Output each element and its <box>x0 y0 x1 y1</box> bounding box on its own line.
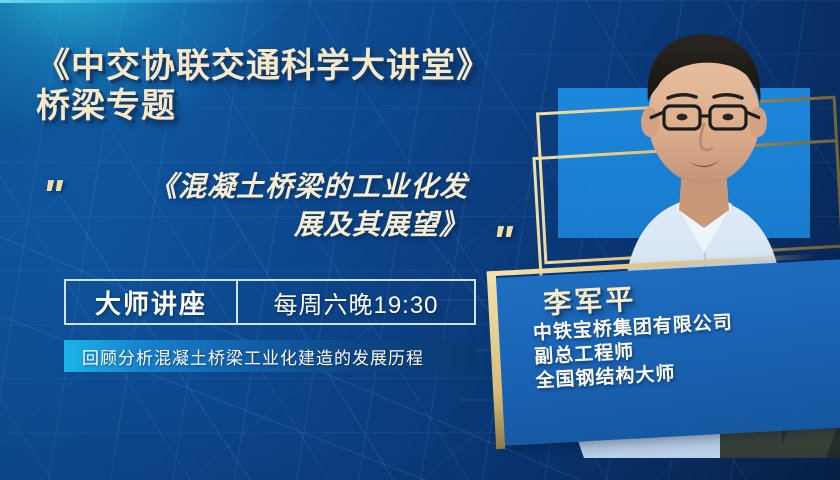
lecture-title-quote: " 《混凝土桥梁的工业化发 展及其展望》 " <box>40 168 510 244</box>
schedule-label: 大师讲座 <box>66 281 238 323</box>
speaker-info-panel: 李军平 中铁宝桥集团有限公司 副总工程师 全国钢结构大师 <box>496 259 840 446</box>
headline-line-1: 《中交协联交通科学大讲堂》 <box>36 47 491 85</box>
subtitle-text: 回顾分析混凝土桥梁工业化建造的发展历程 <box>64 344 424 369</box>
promo-poster: 《中交协联交通科学大讲堂》 桥梁专题 " 《混凝土桥梁的工业化发 展及其展望》 … <box>0 0 840 480</box>
schedule-box: 大师讲座 每周六晚19:30 <box>64 279 476 325</box>
lecture-title-text: 《混凝土桥梁的工业化发 展及其展望》 <box>40 168 510 244</box>
quote-open-mark: " <box>42 174 60 218</box>
page-title: 《中交协联交通科学大讲堂》 桥梁专题 <box>36 46 491 126</box>
subtitle-bar: 回顾分析混凝土桥梁工业化建造的发展历程 <box>64 340 476 372</box>
headline-line-2: 桥梁专题 <box>36 86 491 126</box>
top-glow-strip <box>0 0 840 3</box>
quote-close-mark: " <box>492 220 510 264</box>
schedule-time: 每周六晚19:30 <box>238 281 474 323</box>
